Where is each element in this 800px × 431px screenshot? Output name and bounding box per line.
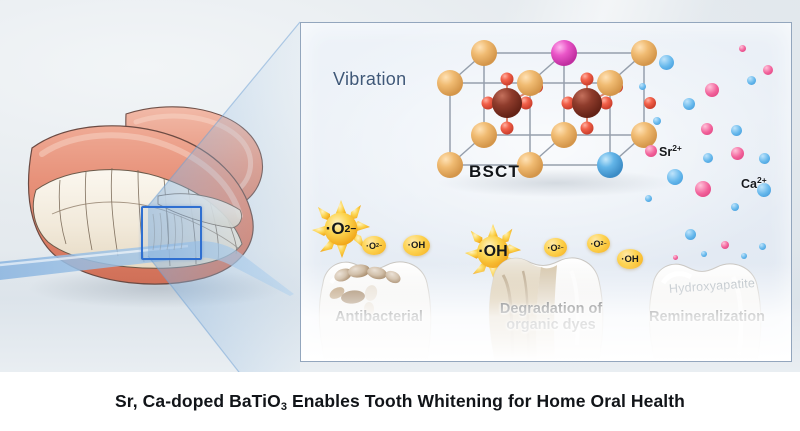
magnified-region[interactable] (141, 206, 202, 260)
vibration-label: Vibration (333, 69, 406, 90)
sr-ion-label: Sr2+ (659, 143, 682, 159)
mechanism-panel: Vibration BSCT Sr2+ (300, 22, 792, 362)
superoxide-burst: ·O2− (311, 199, 371, 259)
ca-ion-label: Ca2+ (741, 175, 767, 191)
hydroxyl-burst: ·OH (464, 223, 522, 281)
ion-cloud (631, 43, 791, 223)
figure-caption: Sr, Ca-doped BaTiO3 Enables Tooth Whiten… (0, 372, 800, 431)
caption-text: Sr, Ca-doped BaTiO3 Enables Tooth Whiten… (115, 391, 685, 413)
figure-canvas: Vibration BSCT Sr2+ (0, 0, 800, 431)
panel-floor-fade (301, 263, 791, 361)
crystal-label: BSCT (469, 162, 520, 182)
